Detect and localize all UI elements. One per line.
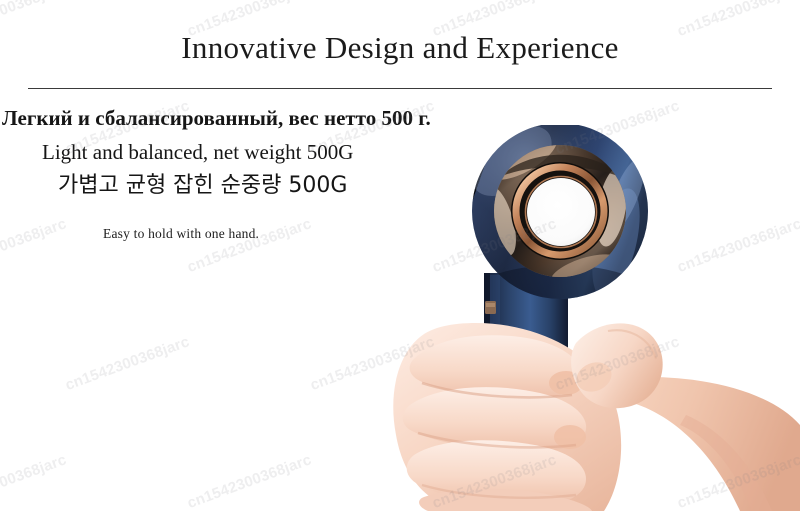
- nozzle-aperture: [527, 178, 595, 246]
- copy-line-korean: 가볍고 균형 잡힌 순중량 500G: [0, 170, 520, 202]
- button-upper: [485, 301, 496, 314]
- copy-line-russian: Легкий и сбалансированный, вес нетто 500…: [0, 104, 520, 134]
- copy-line-english: Light and balanced, net weight 500G: [0, 137, 520, 169]
- watermark-text: cn1542300368jarc: [63, 333, 192, 394]
- copy-note: Easy to hold with one hand.: [0, 226, 520, 242]
- product-feature-slide: Innovative Design and Experience: [0, 0, 800, 511]
- watermark-text: cn1542300368jarc: [185, 451, 314, 511]
- page-title: Innovative Design and Experience: [0, 30, 800, 66]
- watermark-text: cn1542300368jarc: [0, 451, 69, 511]
- feature-copy-block: Легкий и сбалансированный, вес нетто 500…: [0, 104, 520, 242]
- title-divider: [28, 88, 772, 89]
- hand-grip: [393, 323, 662, 511]
- forearm: [626, 377, 800, 511]
- thumb: [571, 323, 663, 408]
